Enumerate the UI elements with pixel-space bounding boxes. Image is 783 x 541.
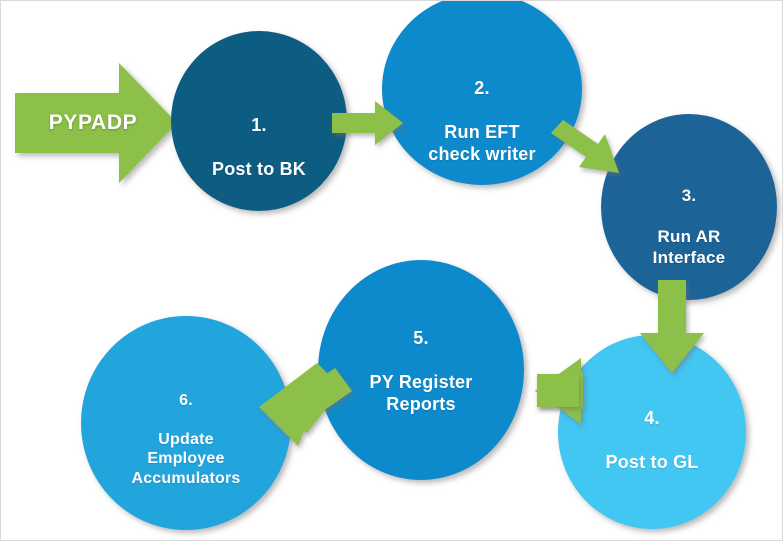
node-circle-6[interactable] xyxy=(81,316,291,530)
flowchart-canvas: PYPADP 1. Post to BK 2. Run EFT check wr… xyxy=(0,0,783,541)
connector-arrow-4-5-shaft xyxy=(537,374,579,407)
node-circle-1[interactable] xyxy=(171,31,347,211)
flowchart-graphic xyxy=(1,1,783,541)
node-circle-2[interactable] xyxy=(382,1,582,185)
node-circle-4[interactable] xyxy=(558,335,746,529)
node-circle-5[interactable] xyxy=(318,260,524,480)
input-block-arrow xyxy=(15,63,177,183)
node-circle-3[interactable] xyxy=(601,114,777,300)
